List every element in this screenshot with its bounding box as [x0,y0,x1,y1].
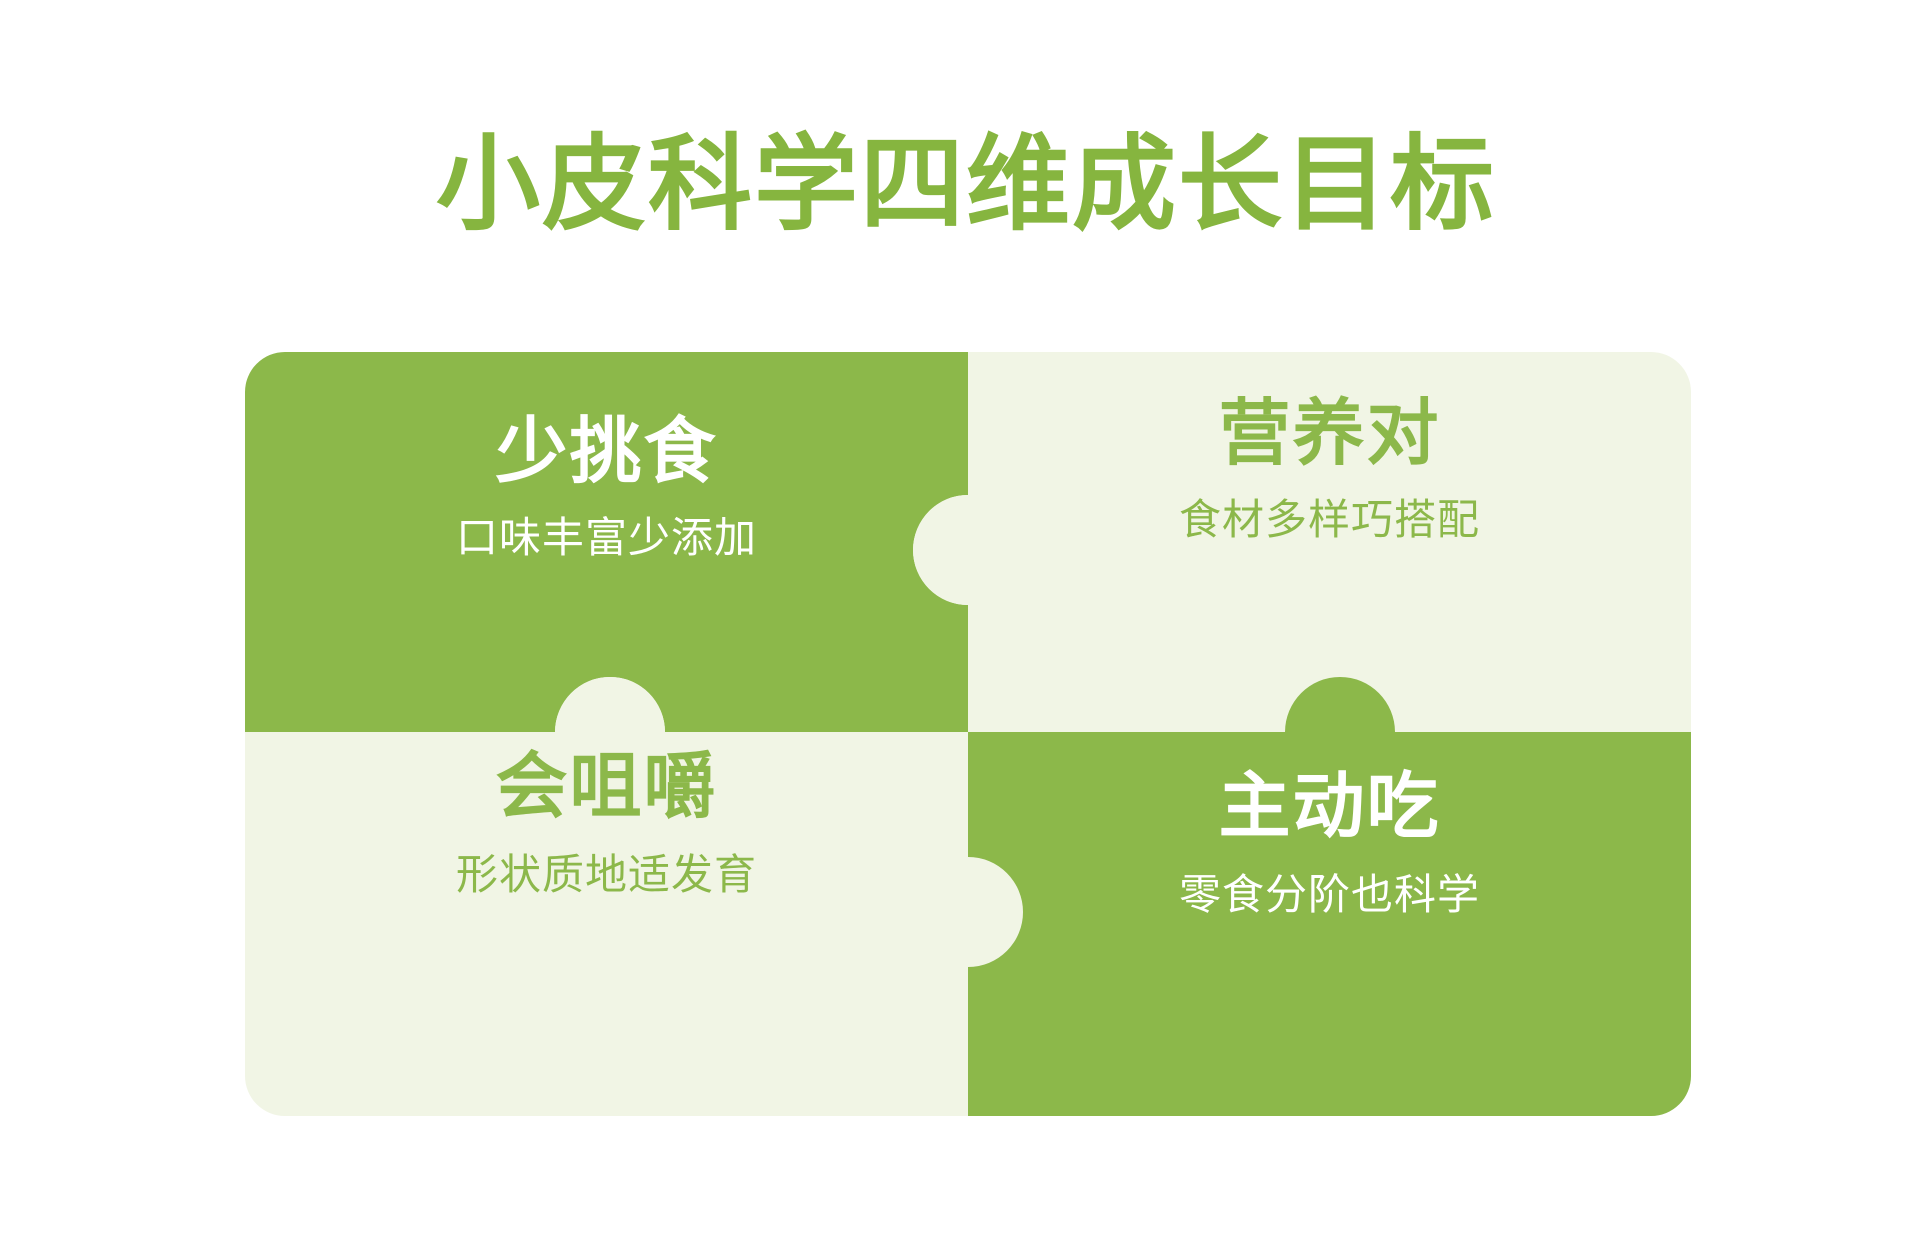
puzzle-piece-bottom-right[interactable] [968,677,1691,1116]
infographic-canvas: 小皮科学四维成长目标 少挑食 口味丰富少添加 营养对 食材多样巧搭配 会咀嚼 [0,0,1932,1256]
puzzle-diagram: 少挑食 口味丰富少添加 营养对 食材多样巧搭配 会咀嚼 形状质地适发育 主动吃 … [245,352,1691,1116]
puzzle-piece-top-left[interactable] [245,352,968,732]
puzzle-shapes [245,352,1691,1116]
puzzle-piece-bottom-left[interactable] [245,677,1023,1116]
puzzle-piece-top-right[interactable] [913,352,1691,732]
page-title: 小皮科学四维成长目标 [0,126,1932,244]
